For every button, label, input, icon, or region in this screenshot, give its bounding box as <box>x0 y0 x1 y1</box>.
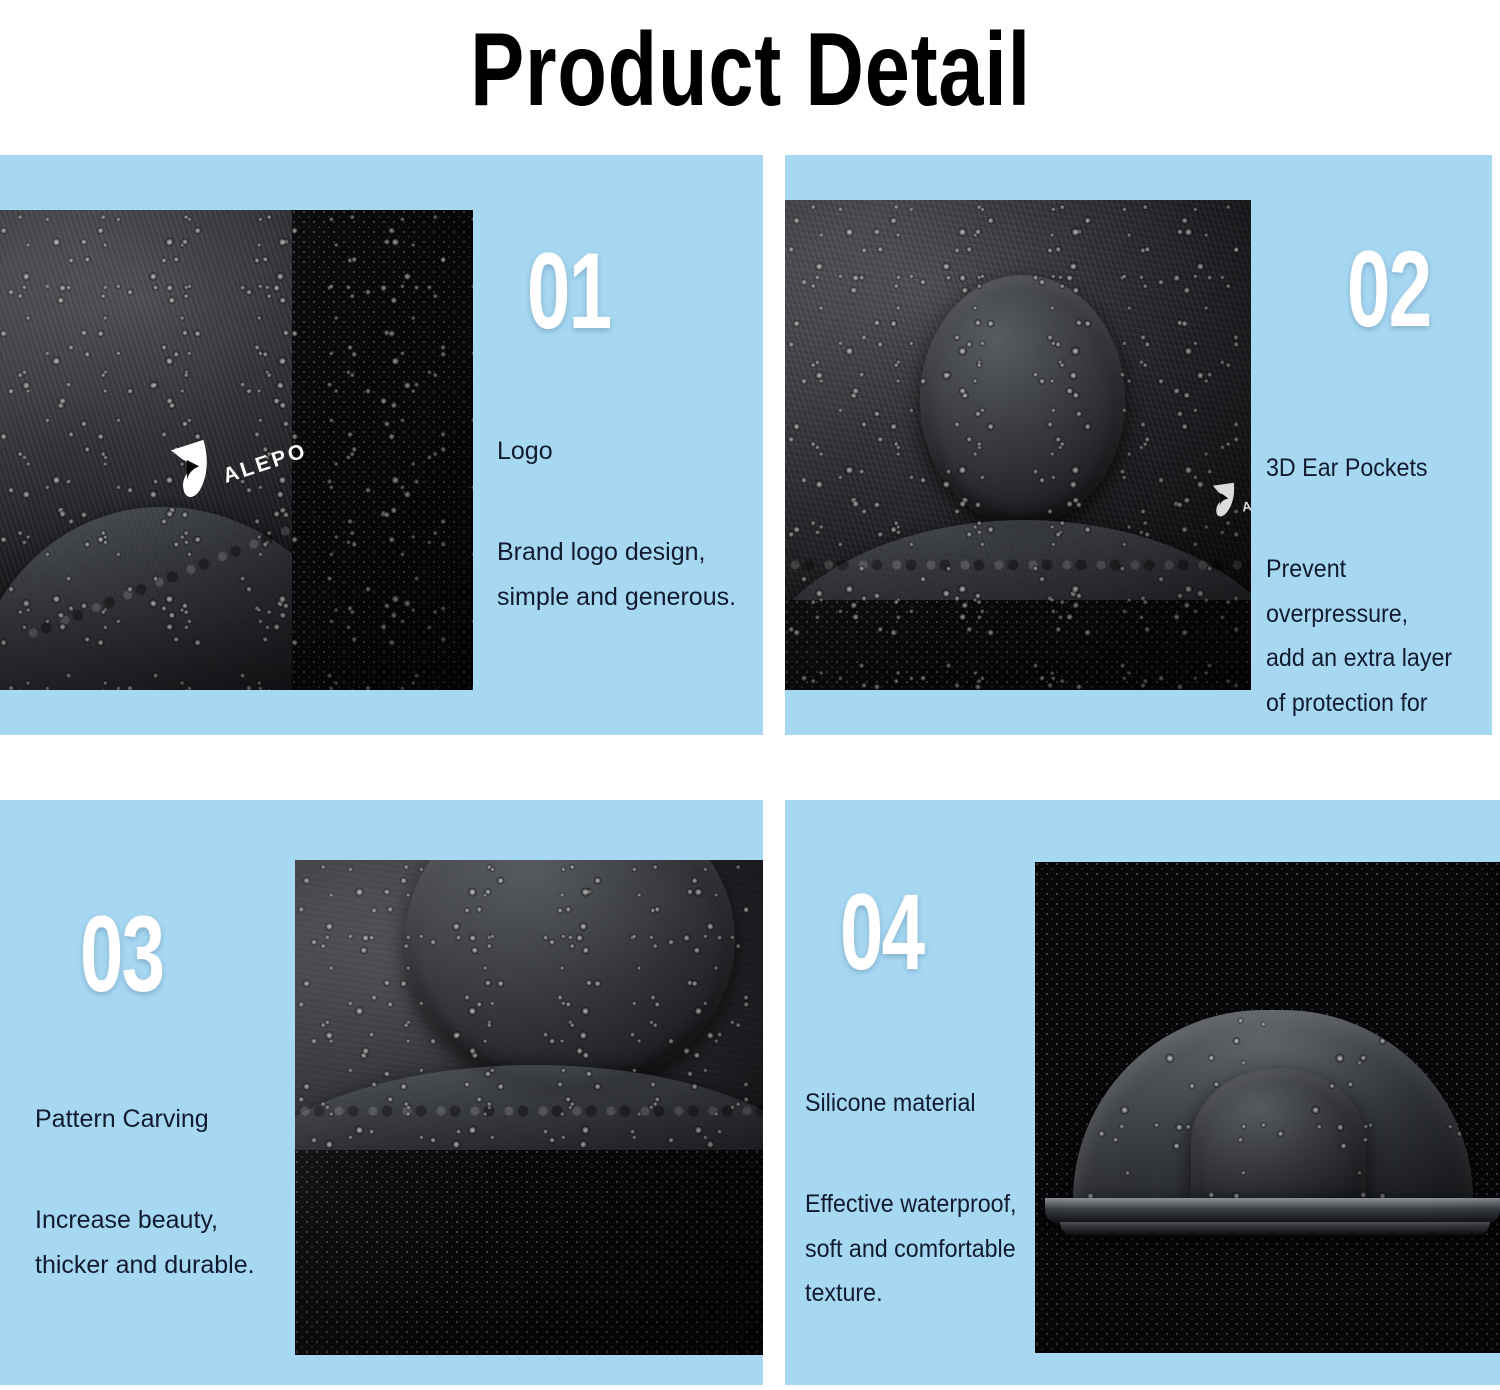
feature-panel-04: 04 Silicone material Effective waterproo… <box>785 800 1500 1385</box>
feature-panel-02: ALEPO 02 3D Ear Pockets Prevent overpres… <box>785 155 1492 735</box>
panel-heading-04: Silicone material <box>805 1090 1024 1116</box>
panel-body-04: Effective waterproof, soft and comfortab… <box>805 1182 1024 1316</box>
panel-text-03: Pattern Carving Increase beauty, thicker… <box>35 1088 285 1305</box>
page-header: Product Detail <box>0 0 1500 140</box>
panel-heading-01: Logo <box>497 438 752 464</box>
panel-body-02: Prevent overpressure, add an extra layer… <box>1266 547 1480 735</box>
panel-number-01: 01 <box>527 237 611 345</box>
photo-vignette <box>295 860 763 1355</box>
alepo-wordmark: ALEPO <box>1241 493 1251 515</box>
panel-text-04: Silicone material Effective waterproof, … <box>805 1072 1040 1334</box>
product-photo-pattern-carving <box>295 860 763 1355</box>
panel-heading-02: 3D Ear Pockets <box>1266 455 1480 481</box>
product-photo-silicone-material <box>1035 862 1500 1353</box>
photo-vignette <box>1035 862 1500 1353</box>
panel-body-01: Brand logo design, simple and generous. <box>497 530 752 619</box>
panel-text-02: 3D Ear Pockets Prevent overpressure, add… <box>1266 437 1492 735</box>
panel-number-02: 02 <box>1347 235 1431 343</box>
feature-panel-03: 03 Pattern Carving Increase beauty, thic… <box>0 800 763 1385</box>
photo-vignette <box>785 200 1251 690</box>
panel-text-01: Logo Brand logo design, simple and gener… <box>497 420 752 637</box>
panel-heading-03: Pattern Carving <box>35 1106 285 1132</box>
product-photo-logo: ALEPO <box>0 210 473 690</box>
product-photo-ear-pocket: ALEPO <box>785 200 1251 690</box>
feature-panel-01: ALEPO 01 Logo Brand logo design, simple … <box>0 155 763 735</box>
alepo-teardrop-icon <box>1209 481 1241 519</box>
panel-body-03: Increase beauty, thicker and durable. <box>35 1198 285 1287</box>
page-title: Product Detail <box>470 18 1031 122</box>
panel-number-03: 03 <box>80 900 164 1008</box>
panel-number-04: 04 <box>840 878 924 986</box>
